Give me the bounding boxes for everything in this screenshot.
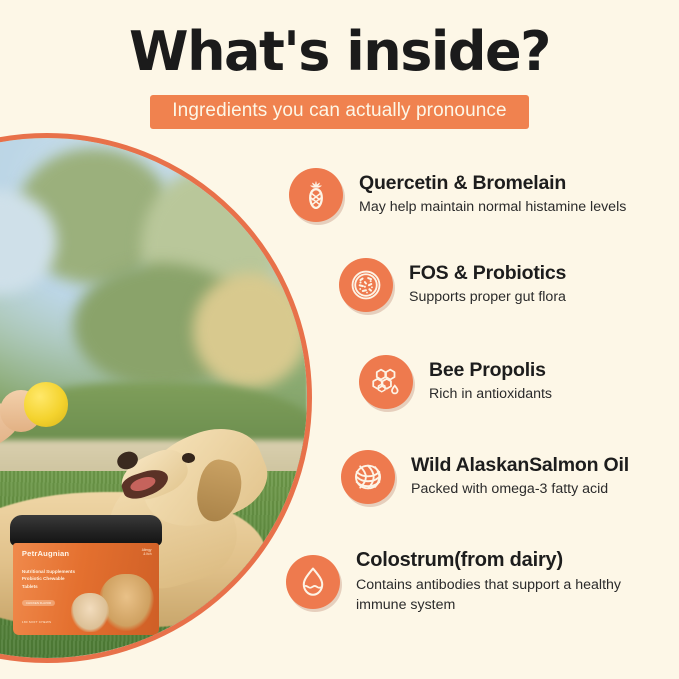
fish-scale-weave-icon bbox=[341, 450, 395, 504]
ingredient-text: Colostrum(from dairy) Contains antibodie… bbox=[356, 549, 621, 616]
ingredient-title: Bee Propolis bbox=[429, 359, 552, 382]
ingredient-description: Supports proper gut flora bbox=[409, 287, 566, 308]
ingredient-title: Wild AlaskanSalmon Oil bbox=[411, 454, 629, 477]
ingredient-item-fos-probiotics: FOS & Probiotics Supports proper gut flo… bbox=[339, 258, 566, 312]
ingredient-item-bee-propolis: Bee Propolis Rich in antioxidants bbox=[359, 355, 552, 409]
ingredient-text: Quercetin & Bromelain May help maintain … bbox=[359, 172, 626, 218]
honeycomb-droplet-icon bbox=[359, 355, 413, 409]
petri-dish-bacteria-icon bbox=[339, 258, 393, 312]
ingredient-description: Rich in antioxidants bbox=[429, 384, 552, 405]
ingredient-description: May help maintain normal histamine level… bbox=[359, 197, 626, 218]
ingredient-description: Packed with omega-3 fatty acid bbox=[411, 479, 629, 500]
water-droplet-icon bbox=[286, 555, 340, 609]
ingredient-title: Quercetin & Bromelain bbox=[359, 172, 626, 195]
ingredient-item-salmon-oil: Wild AlaskanSalmon Oil Packed with omega… bbox=[341, 450, 629, 504]
ingredient-title: FOS & Probiotics bbox=[409, 262, 566, 285]
ingredient-item-quercetin-bromelain: Quercetin & Bromelain May help maintain … bbox=[289, 168, 626, 222]
ingredient-title: Colostrum(from dairy) bbox=[356, 549, 621, 573]
ingredient-text: Bee Propolis Rich in antioxidants bbox=[429, 359, 552, 405]
ingredient-text: Wild AlaskanSalmon Oil Packed with omega… bbox=[411, 454, 629, 500]
pineapple-icon bbox=[289, 168, 343, 222]
ingredient-item-colostrum: Colostrum(from dairy) Contains antibodie… bbox=[286, 549, 621, 616]
infographic-canvas: What's inside? Ingredients you can actua… bbox=[0, 0, 679, 679]
ingredient-text: FOS & Probiotics Supports proper gut flo… bbox=[409, 262, 566, 308]
ingredient-description: Contains antibodies that support a healt… bbox=[356, 575, 621, 616]
ingredient-list: Quercetin & Bromelain May help maintain … bbox=[0, 0, 679, 679]
